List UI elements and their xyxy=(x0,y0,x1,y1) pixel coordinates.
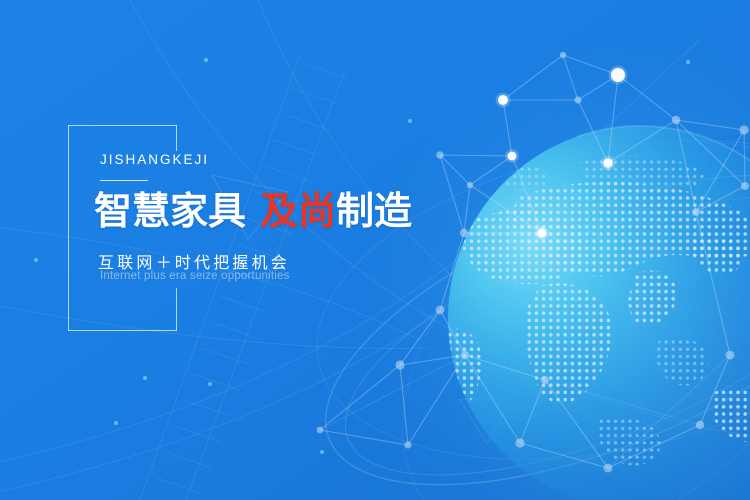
decorative-frame-bottom xyxy=(68,330,177,331)
network-node xyxy=(467,182,473,188)
decorative-frame-top xyxy=(68,125,177,126)
network-node xyxy=(603,158,613,168)
network-node xyxy=(739,125,748,134)
network-node xyxy=(611,68,625,82)
network-node xyxy=(741,182,749,190)
main-headline: 智慧家具及尚制造 xyxy=(94,192,412,230)
headline-tail: 制造 xyxy=(336,188,412,233)
network-node xyxy=(461,351,469,359)
background-speck xyxy=(686,60,690,64)
network-node xyxy=(508,152,517,161)
promo-banner: JISHANGKEJI 智慧家具及尚制造 互联网＋时代把握机会 Internet… xyxy=(0,0,750,500)
subtitle-english: Internet plus era seize opportunities xyxy=(100,270,290,282)
decorative-frame-left xyxy=(68,125,69,331)
decorative-frame-right-upper xyxy=(176,125,177,151)
eyebrow-underline-rule xyxy=(100,180,148,181)
network-node xyxy=(726,351,735,360)
network-node xyxy=(672,116,680,124)
network-node xyxy=(604,464,613,473)
decorative-frame-right-lower xyxy=(176,288,177,331)
network-node xyxy=(574,96,581,103)
headline-text-block: JISHANGKEJI 智慧家具及尚制造 互联网＋时代把握机会 Internet… xyxy=(0,0,450,500)
headline-accent: 及尚 xyxy=(260,188,336,233)
brand-eyebrow-label: JISHANGKEJI xyxy=(100,152,209,167)
network-node xyxy=(460,229,468,237)
network-node xyxy=(560,52,566,58)
headline-lead: 智慧家具 xyxy=(94,188,246,233)
network-node xyxy=(515,438,524,447)
network-node xyxy=(537,228,546,237)
network-node xyxy=(696,421,704,429)
network-node xyxy=(541,376,549,384)
network-node xyxy=(498,95,508,105)
network-node xyxy=(692,208,700,216)
